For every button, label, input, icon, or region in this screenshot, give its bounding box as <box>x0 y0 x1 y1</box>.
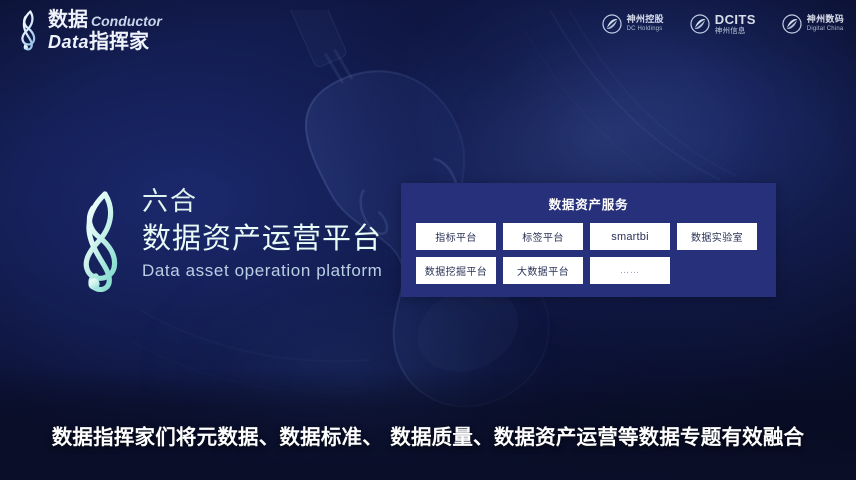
partner-names: DCITS 神州信息 <box>715 13 756 35</box>
panel-title: 数据资产服务 <box>401 183 776 213</box>
service-card-data-lab[interactable]: 数据实验室 <box>677 223 757 250</box>
partner-digital-china: 神州数码 Digital China <box>782 14 844 34</box>
service-card-tag-platform[interactable]: 标签平台 <box>503 223 583 250</box>
service-card-data-mining-platform[interactable]: 数据挖掘平台 <box>416 257 496 284</box>
service-card-smartbi[interactable]: smartbi <box>590 223 670 250</box>
brand-logo: 数据 Conductor Data 指挥家 <box>14 8 162 52</box>
hero-title-block: 六合 数据资产运营平台 Data asset operation platfor… <box>68 186 382 292</box>
partner-en-name: 神州信息 <box>715 27 756 35</box>
hero-line-secondary: 数据资产运营平台 <box>142 220 382 258</box>
hero-line-primary: 六合 <box>142 186 382 219</box>
brand-cn-bottom: 指挥家 <box>89 31 149 51</box>
brand-en-top: Conductor <box>91 14 162 28</box>
service-card-indicator-platform[interactable]: 指标平台 <box>416 223 496 250</box>
partner-names: 神州数码 Digital China <box>807 16 844 32</box>
hero-text: 六合 数据资产运营平台 Data asset operation platfor… <box>142 186 382 281</box>
service-card-more[interactable]: …… <box>590 257 670 284</box>
slide-root: 数据 Conductor Data 指挥家 神州控股 DC Holdings <box>0 0 856 480</box>
partner-en-name: DC Holdings <box>627 26 664 32</box>
brand-row-bottom: Data 指挥家 <box>48 31 162 51</box>
partner-cn-name: 神州数码 <box>807 16 844 26</box>
service-card-big-data-platform[interactable]: 大数据平台 <box>503 257 583 284</box>
treble-clef-icon <box>14 8 44 52</box>
data-asset-service-panel: 数据资产服务 指标平台 标签平台 smartbi 数据实验室 数据挖掘平台 大数… <box>401 183 776 297</box>
treble-clef-icon <box>68 188 132 292</box>
partner-dcits: DCITS 神州信息 <box>690 13 756 35</box>
brand-row-top: 数据 Conductor <box>48 9 162 29</box>
service-card-grid: 指标平台 标签平台 smartbi 数据实验室 数据挖掘平台 大数据平台 …… <box>416 223 763 284</box>
partner-en-name: Digital China <box>807 26 844 32</box>
swirl-icon <box>782 14 802 34</box>
brand-cn-top: 数据 <box>48 9 88 29</box>
swirl-icon <box>690 14 710 34</box>
partner-logo-group: 神州控股 DC Holdings DCITS 神州信息 神州数码 <box>602 13 844 35</box>
partner-names: 神州控股 DC Holdings <box>627 16 664 32</box>
brand-text-block: 数据 Conductor Data 指挥家 <box>48 9 162 51</box>
brand-en-bottom: Data <box>48 33 89 51</box>
hero-line-english: Data asset operation platform <box>142 261 382 281</box>
partner-dc-holdings: 神州控股 DC Holdings <box>602 14 664 34</box>
partner-cn-name: DCITS <box>715 13 756 27</box>
partner-cn-name: 神州控股 <box>627 16 664 26</box>
swirl-icon <box>602 14 622 34</box>
caption-text: 数据指挥家们将元数据、数据标准、 数据质量、数据资产运营等数据专题有效融合 <box>0 420 856 450</box>
